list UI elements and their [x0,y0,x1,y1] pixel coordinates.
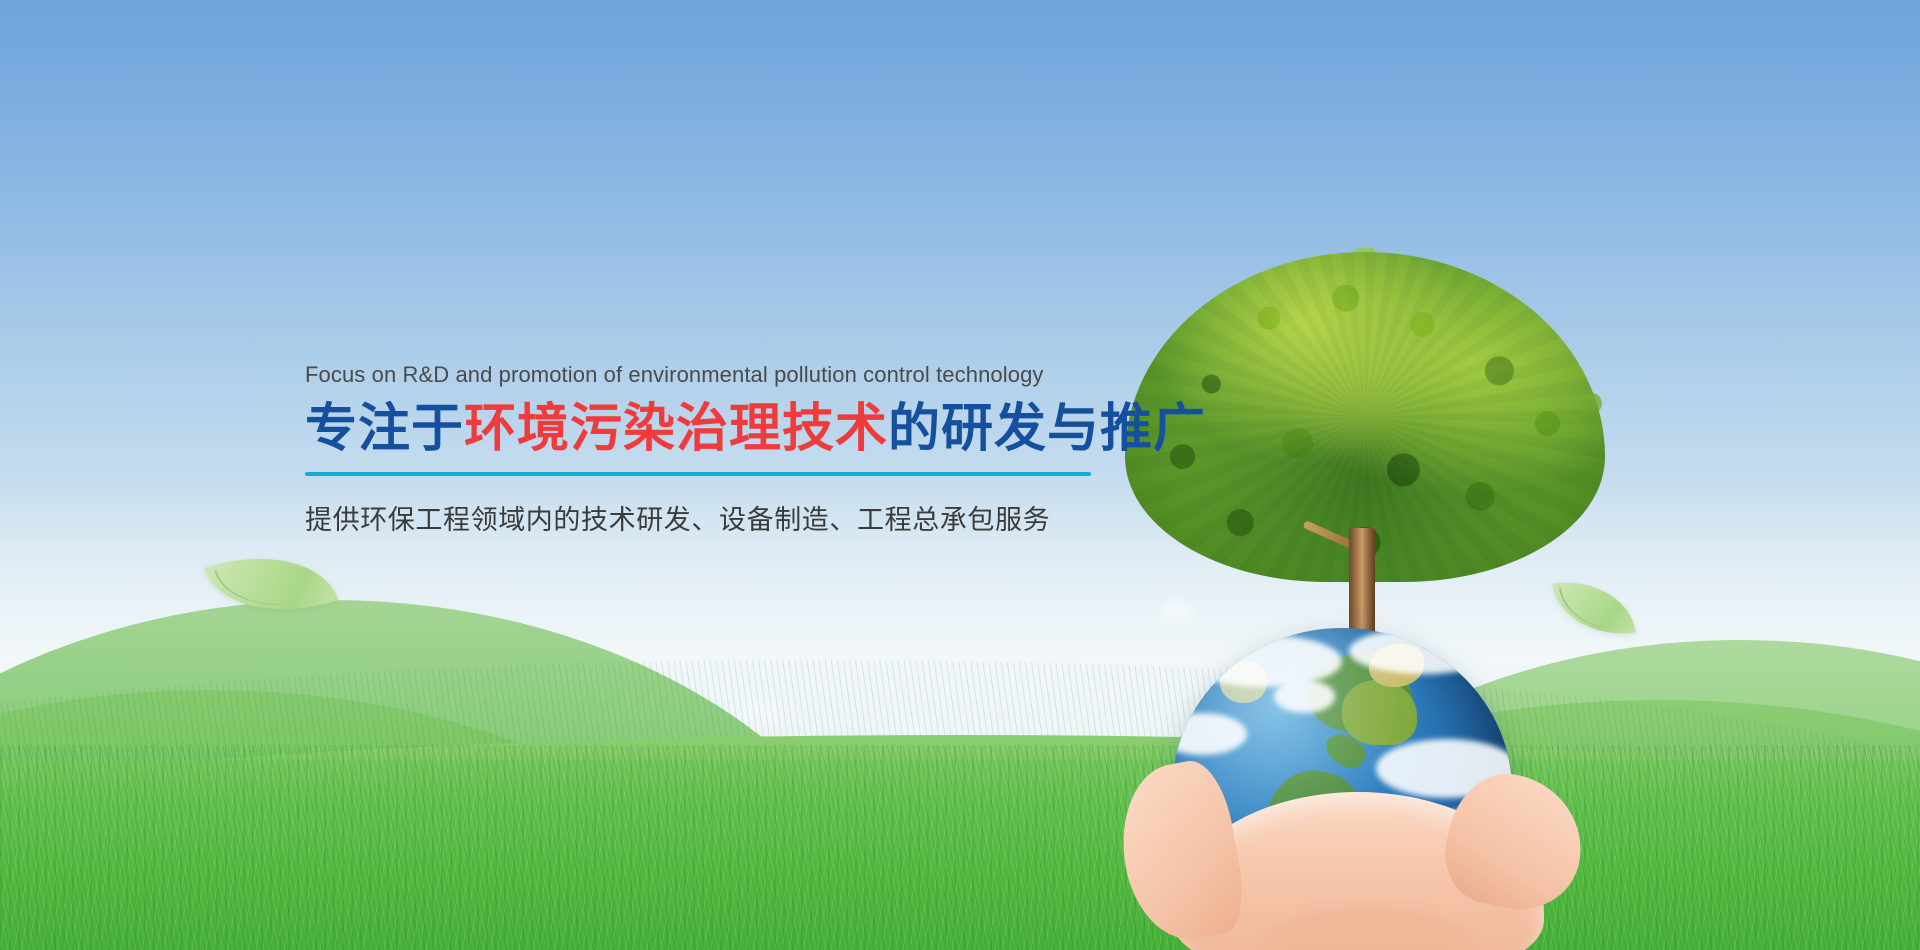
tree-illustration [1125,252,1605,672]
headline-divider [305,472,1091,476]
floating-leaf-right [1552,573,1636,643]
headline-segment-blue-leading: 专注于 [305,399,464,459]
hero-banner: Focus on R&D and promotion of environmen… [0,0,1920,950]
service-subline: 提供环保工程领域内的技术研发、设备制造、工程总承包服务 [305,498,1105,537]
grass-blade-texture [0,745,1920,950]
headline-segment-red-emphasis: 环境污染治理技术 [464,399,888,459]
headline-segment-blue-trailing: 的研发与推广 [888,399,1206,459]
hand-holding-globe [1118,758,1588,950]
tagline-english: Focus on R&D and promotion of environmen… [305,362,1105,388]
headline: 专注于环境污染治理技术的研发与推广 [305,400,1105,458]
banner-copy-block: Focus on R&D and promotion of environmen… [305,362,1105,537]
hand-thumb [1110,756,1251,949]
